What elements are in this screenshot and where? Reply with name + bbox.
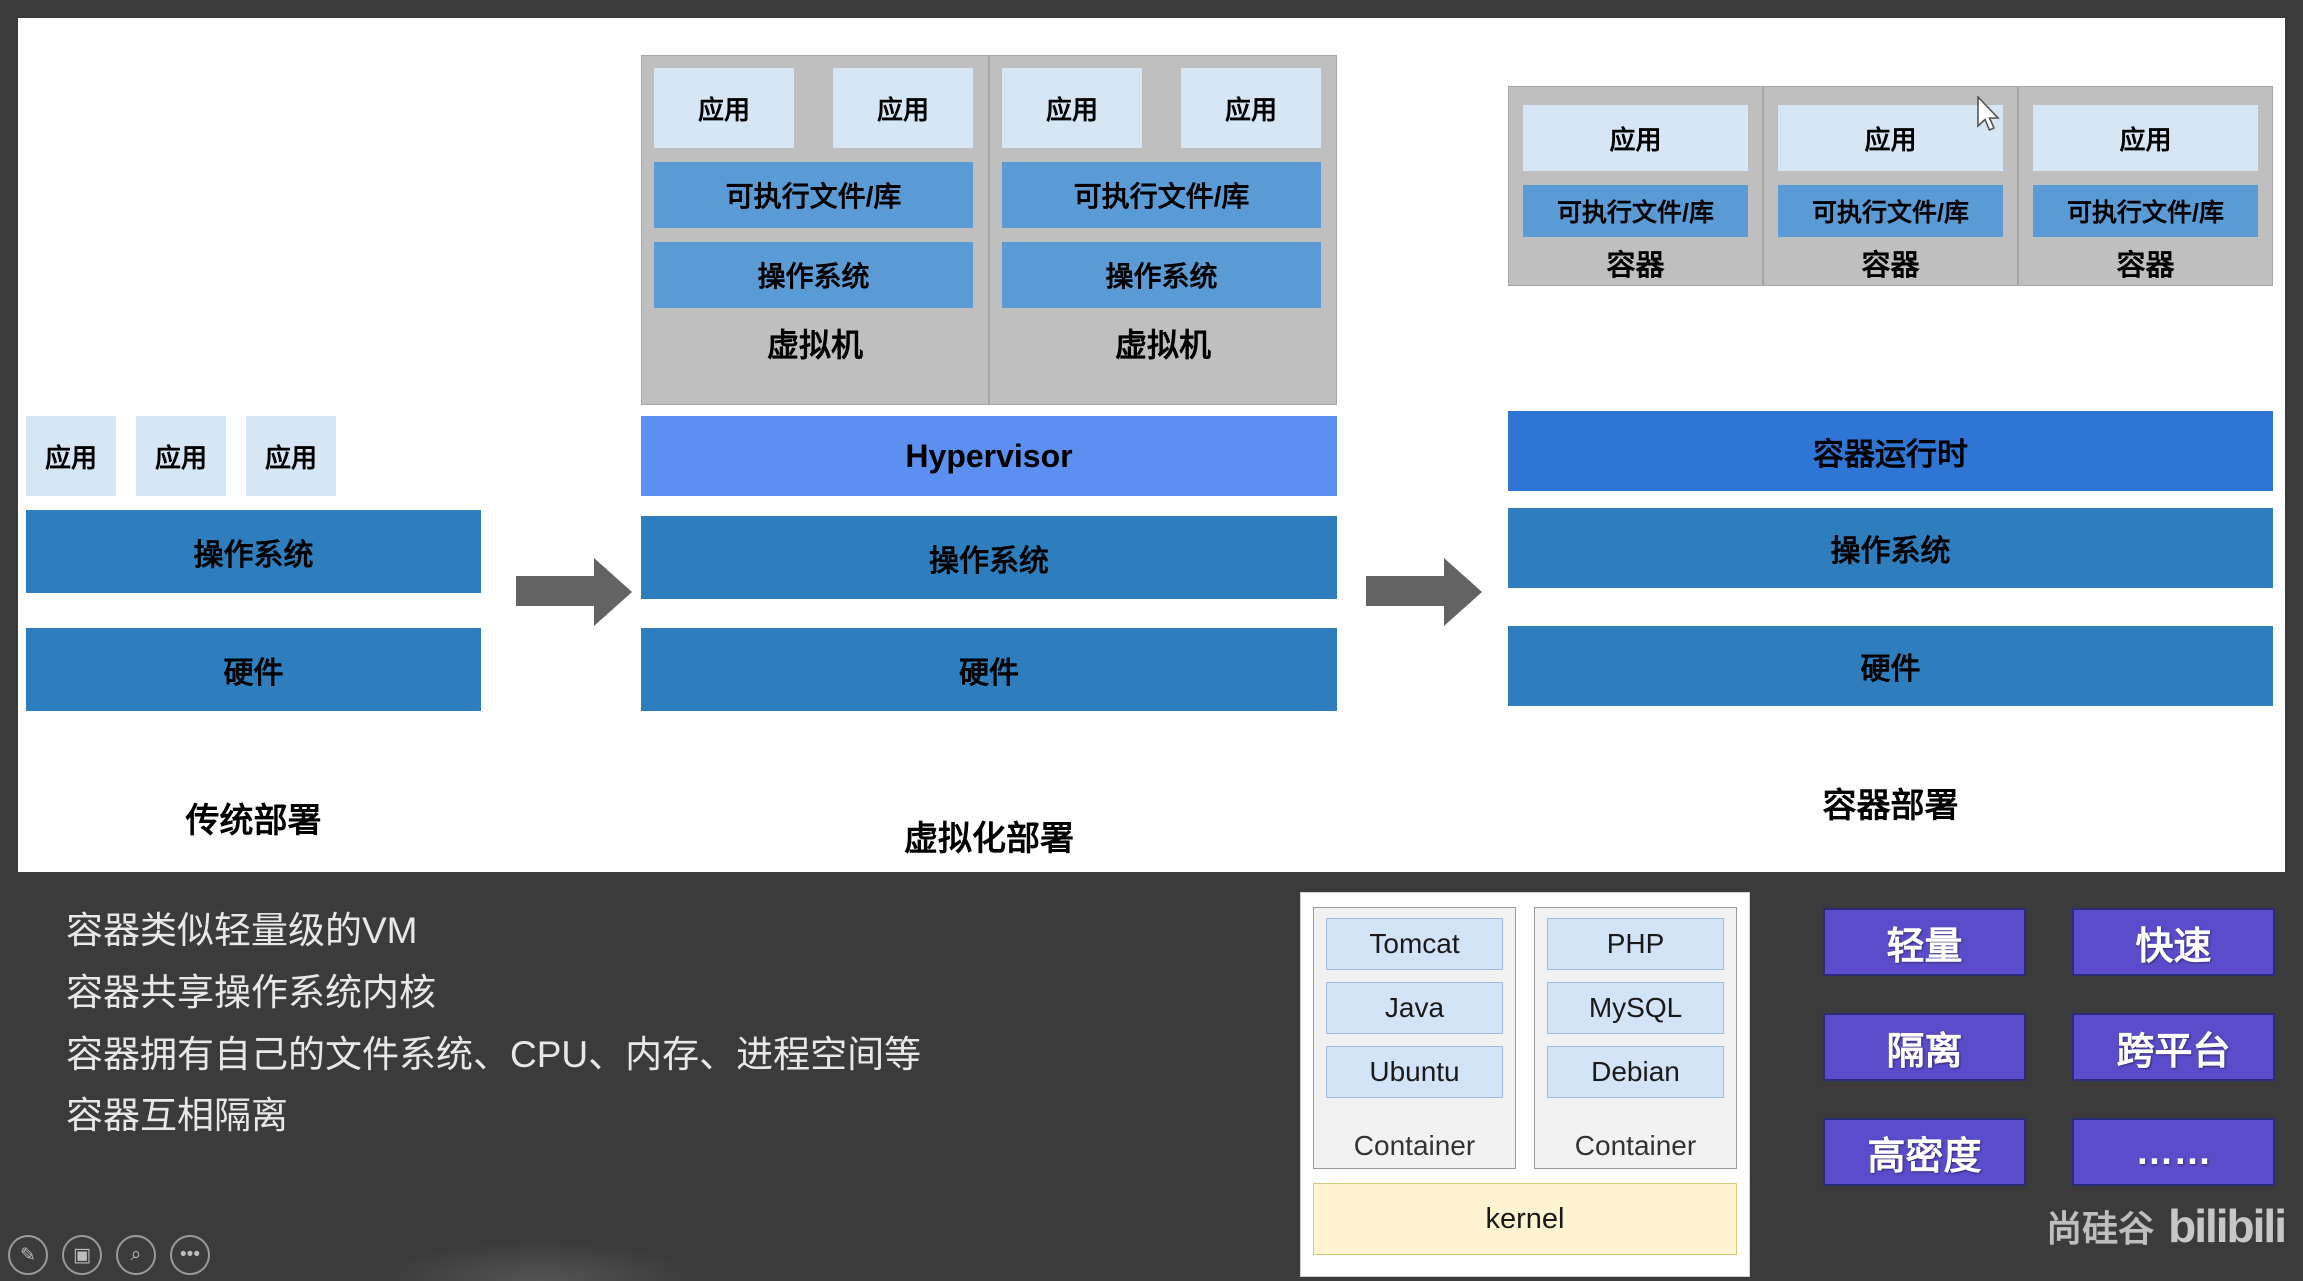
hardware-layer: 硬件	[1508, 626, 2273, 706]
container-runtime-layer: 容器运行时	[1508, 411, 2273, 491]
app-box: 应用	[1002, 68, 1142, 148]
os-box: 操作系统	[1002, 242, 1321, 308]
vm-label: 虚拟机	[642, 320, 988, 366]
mini-item: Java	[1326, 982, 1503, 1034]
hardware-layer: 硬件	[641, 628, 1337, 711]
badge-more[interactable]: ……	[2072, 1118, 2275, 1186]
watermark: 尚硅谷 bilibili	[2046, 1199, 2285, 1253]
lib-box: 可执行文件/库	[2033, 185, 2258, 237]
mini-item: Ubuntu	[1326, 1046, 1503, 1098]
container-label: 容器	[1509, 242, 1762, 284]
mini-container-box: Tomcat Java Ubuntu Container	[1313, 907, 1516, 1169]
app-box: 应用	[833, 68, 973, 148]
badge-lightweight[interactable]: 轻量	[1823, 908, 2026, 976]
container-kernel-diagram: Tomcat Java Ubuntu Container PHP MySQL D…	[1300, 892, 1750, 1277]
column-caption-container: 容器部署	[1508, 778, 2273, 827]
hypervisor-layer: Hypervisor	[641, 416, 1337, 496]
player-toolbar[interactable]: ✎ ▣ ⌕ •••	[8, 1235, 210, 1275]
os-box: 操作系统	[654, 242, 973, 308]
slide-canvas: 应用 应用 应用 操作系统 硬件 传统部署 应用 应用 可执行文件/库 操作系统…	[18, 18, 2285, 872]
badge-isolation[interactable]: 隔离	[1823, 1013, 2026, 1081]
bullet-item: 容器拥有自己的文件系统、CPU、内存、进程空间等	[66, 1029, 1246, 1081]
kernel-box: kernel	[1313, 1183, 1737, 1255]
app-box: 应用	[2033, 105, 2258, 171]
search-icon[interactable]: ⌕	[116, 1235, 156, 1275]
mini-item: Tomcat	[1326, 918, 1503, 970]
container-group: 应用 可执行文件/库 容器	[1508, 86, 1763, 286]
mini-container-label: Container	[1535, 1130, 1736, 1162]
badge-cross-platform[interactable]: 跨平台	[2072, 1013, 2275, 1081]
lib-box: 可执行文件/库	[1002, 162, 1321, 228]
notes-bullet-list: 容器类似轻量级的VM 容器共享操作系统内核 容器拥有自己的文件系统、CPU、内存…	[66, 905, 1246, 1152]
app-box: 应用	[654, 68, 794, 148]
os-layer: 操作系统	[641, 516, 1337, 599]
app-box: 应用	[1181, 68, 1321, 148]
app-box: 应用	[1523, 105, 1748, 171]
mini-container-label: Container	[1314, 1130, 1515, 1162]
pen-icon[interactable]: ✎	[8, 1235, 48, 1275]
slides-icon[interactable]: ▣	[62, 1235, 102, 1275]
bullet-item: 容器共享操作系统内核	[66, 967, 1246, 1019]
os-layer: 操作系统	[1508, 508, 2273, 588]
lib-box: 可执行文件/库	[1778, 185, 2003, 237]
badge-high-density[interactable]: 高密度	[1823, 1118, 2026, 1186]
mini-container-box: PHP MySQL Debian Container	[1534, 907, 1737, 1169]
app-box: 应用	[136, 416, 226, 496]
vm-group: 应用 应用 可执行文件/库 操作系统 虚拟机	[641, 55, 989, 405]
mini-item: MySQL	[1547, 982, 1724, 1034]
app-box: 应用	[26, 416, 116, 496]
bilibili-logo: bilibili	[2168, 1199, 2285, 1253]
container-label: 容器	[2019, 242, 2272, 284]
more-icon[interactable]: •••	[170, 1235, 210, 1275]
container-label: 容器	[1764, 242, 2017, 284]
hardware-layer: 硬件	[26, 628, 481, 711]
vm-group: 应用 应用 可执行文件/库 操作系统 虚拟机	[989, 55, 1337, 405]
lib-box: 可执行文件/库	[654, 162, 973, 228]
os-layer: 操作系统	[26, 510, 481, 593]
bullet-item: 容器类似轻量级的VM	[66, 905, 1246, 957]
mini-item: Debian	[1547, 1046, 1724, 1098]
screen-glow	[380, 1241, 700, 1281]
watermark-text: 尚硅谷	[2046, 1200, 2154, 1252]
app-box: 应用	[1778, 105, 2003, 171]
lib-box: 可执行文件/库	[1523, 185, 1748, 237]
vm-label: 虚拟机	[990, 320, 1336, 366]
badge-fast[interactable]: 快速	[2072, 908, 2275, 976]
container-group: 应用 可执行文件/库 容器	[2018, 86, 2273, 286]
column-caption-traditional: 传统部署	[26, 793, 481, 842]
mini-item: PHP	[1547, 918, 1724, 970]
app-box: 应用	[246, 416, 336, 496]
mouse-cursor-icon	[1976, 96, 2002, 134]
bullet-item: 容器互相隔离	[66, 1090, 1246, 1142]
column-caption-virtualization: 虚拟化部署	[641, 811, 1337, 860]
